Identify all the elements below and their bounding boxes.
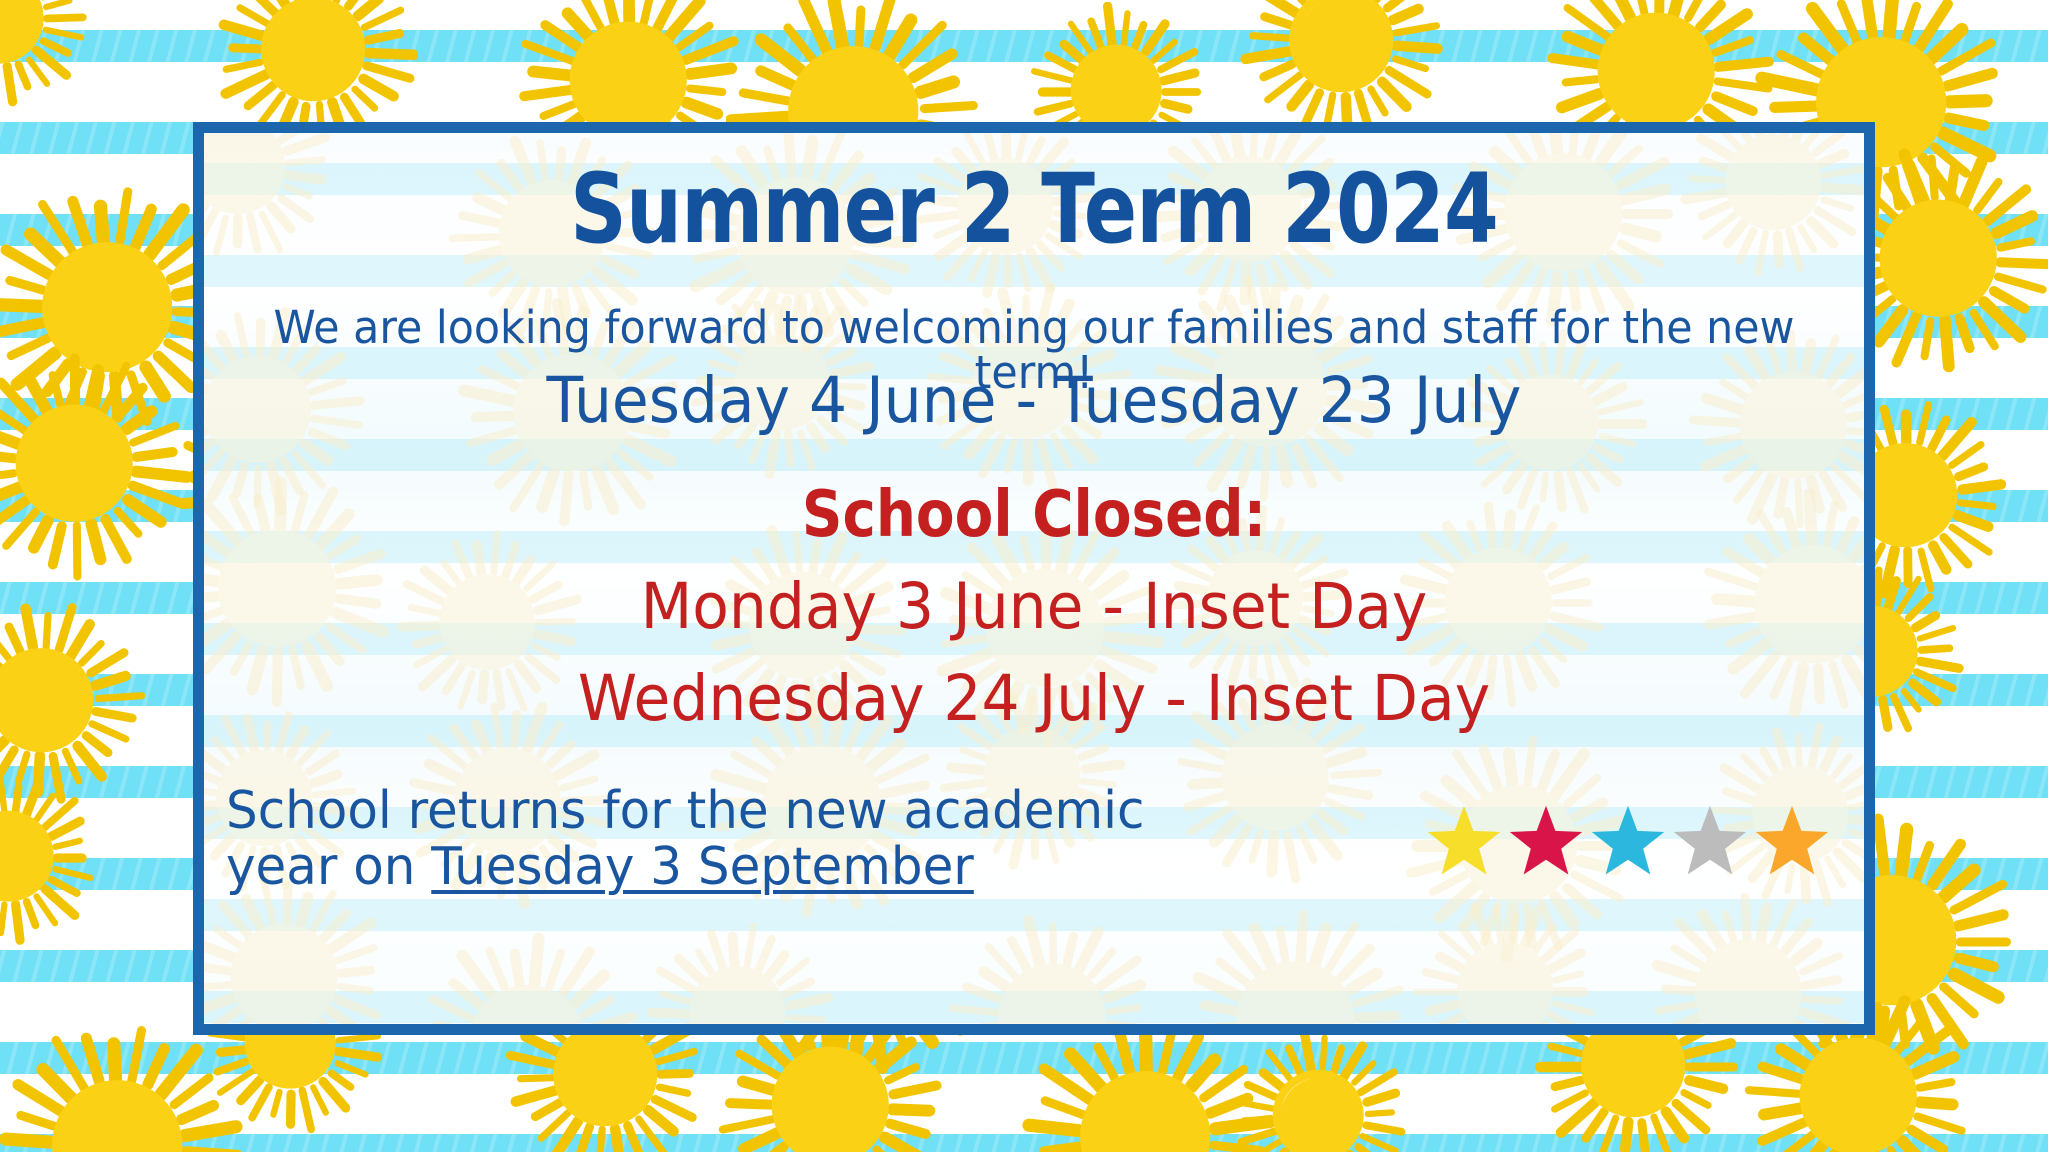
sun-icon: [0, 349, 192, 581]
poster-canvas: Summer 2 Term 2024 We are looking forwar…: [0, 0, 2048, 1152]
return-note-line-2: year on Tuesday 3 September: [226, 839, 1144, 895]
star-row: [1426, 805, 1830, 881]
return-note: School returns for the new academic year…: [226, 783, 1144, 895]
school-closed-heading: School Closed:: [304, 483, 1765, 547]
poster-content: Summer 2 Term 2024 We are looking forwar…: [204, 133, 1864, 1024]
return-note-prefix: year on: [226, 837, 431, 897]
star-grey-icon: [1672, 805, 1748, 881]
star-orange-icon: [1754, 805, 1830, 881]
return-date-underlined: Tuesday 3 September: [431, 837, 974, 897]
star-yellow-icon: [1426, 805, 1502, 881]
closed-date-line-1: Monday 3 June - Inset Day: [246, 575, 1823, 638]
announcement-frame: Summer 2 Term 2024 We are looking forwar…: [193, 122, 1875, 1035]
return-note-line-1: School returns for the new academic: [226, 783, 1144, 839]
closed-date-line-2: Wednesday 24 July - Inset Day: [246, 667, 1823, 730]
star-crimson-icon: [1508, 805, 1584, 881]
page-title: Summer 2 Term 2024: [353, 161, 1714, 257]
star-cyan-icon: [1590, 805, 1666, 881]
term-date-range: Tuesday 4 June - Tuesday 23 July: [246, 369, 1823, 432]
sun-icon: [1230, 1027, 1410, 1152]
sun-icon: [0, 0, 90, 110]
sun-icon: [0, 768, 100, 948]
